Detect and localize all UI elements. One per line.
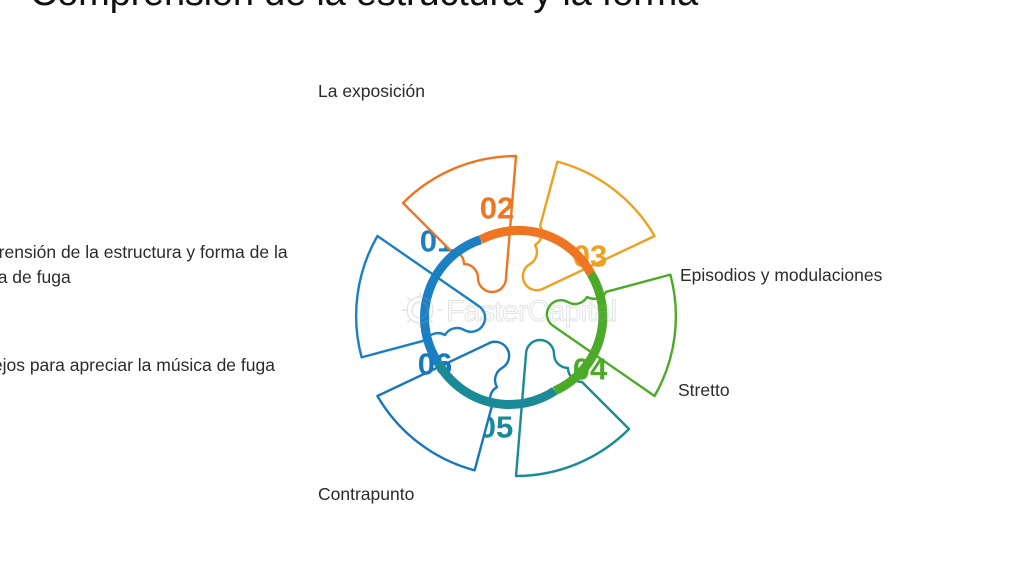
callout-label-06: Consejos para apreciar la música de fuga bbox=[0, 353, 320, 378]
page-title: Comprensión de la estructura y la forma bbox=[30, 0, 1010, 16]
cycle-wheel-diagram: 01 02 03 04 05 06 bbox=[347, 147, 685, 485]
callout-label-03: Episodios y modulaciones bbox=[680, 263, 882, 288]
callout-label-02: La exposición bbox=[318, 79, 425, 104]
cycle-wheel-svg: 01 02 03 04 05 06 bbox=[347, 147, 685, 485]
segment-number-02: 02 bbox=[480, 191, 514, 226]
callout-label-05: Contrapunto bbox=[318, 482, 414, 507]
callout-label-04: Stretto bbox=[678, 378, 730, 403]
callout-label-01: Comprensión de la estructura y forma de … bbox=[0, 240, 342, 291]
